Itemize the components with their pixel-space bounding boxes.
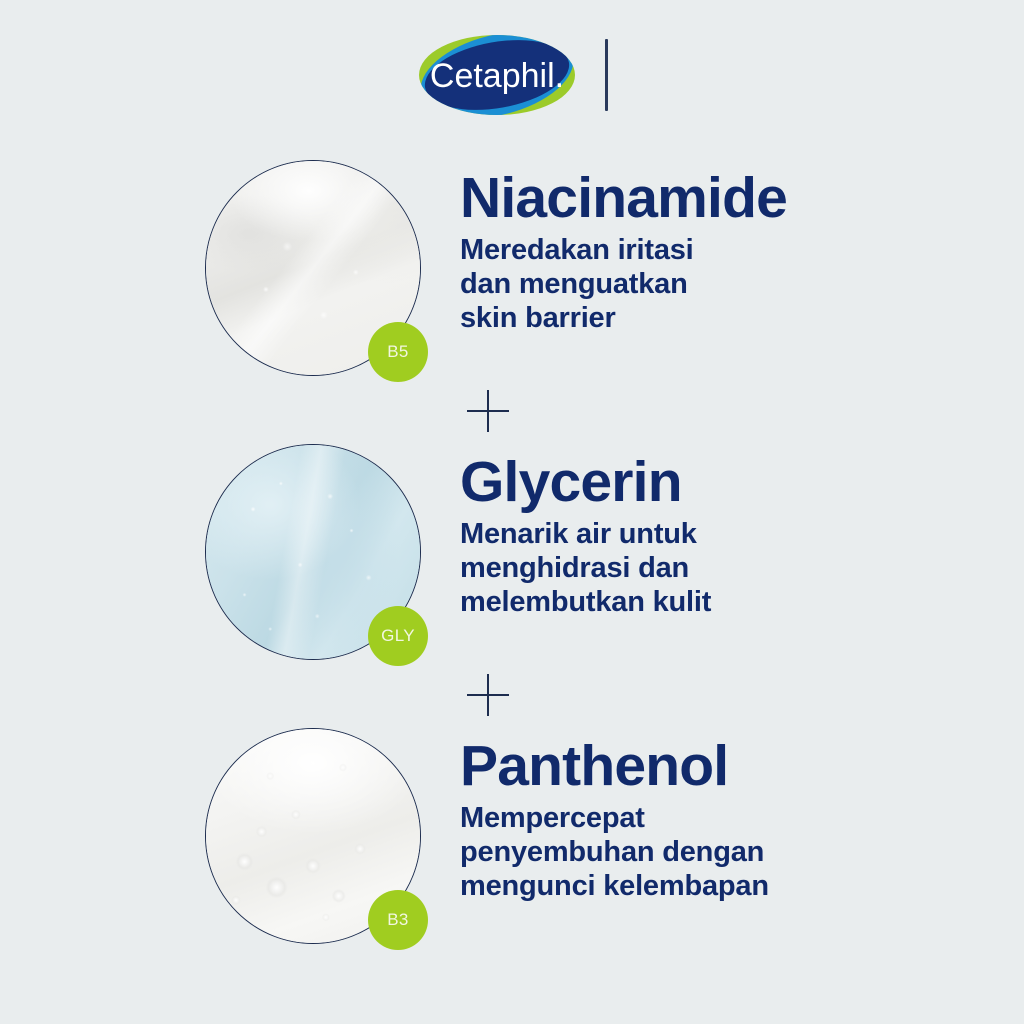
desc-line: dan menguatkan [460, 267, 1024, 301]
separator-row-1 [0, 386, 1024, 432]
cetaphil-wordmark: Cetaphil. [429, 57, 563, 95]
ingredient-row-niacinamide: B5 Niacinamide Meredakan iritasi dan men… [0, 148, 1024, 386]
desc-line: menghidrasi dan [460, 551, 1024, 585]
desc-line: melembutkan kulit [460, 585, 1024, 619]
badge-b5: B5 [368, 322, 428, 382]
text-column: Glycerin Menarik air untuk menghidrasi d… [460, 432, 1024, 620]
ingredient-title-glycerin: Glycerin [460, 454, 1024, 511]
header-divider [605, 39, 608, 111]
desc-line: skin barrier [460, 301, 1024, 335]
ingredient-title-panthenol: Panthenol [460, 738, 1024, 795]
swatch-column: B5 [0, 148, 460, 386]
desc-line: Meredakan iritasi [460, 233, 1024, 267]
badge-b3: B3 [368, 890, 428, 950]
badge-gly: GLY [368, 606, 428, 666]
ingredient-title-niacinamide: Niacinamide [460, 170, 1024, 227]
text-column: Panthenol Mempercepat penyembuhan dengan… [460, 716, 1024, 904]
ingredient-desc-glycerin: Menarik air untuk menghidrasi dan melemb… [460, 517, 1024, 620]
plus-icon [467, 674, 509, 716]
cetaphil-logo-icon: Cetaphil. [417, 32, 577, 118]
desc-line: penyembuhan dengan [460, 835, 1024, 869]
ingredient-list: B5 Niacinamide Meredakan iritasi dan men… [0, 148, 1024, 954]
ingredient-desc-niacinamide: Meredakan iritasi dan menguatkan skin ba… [460, 233, 1024, 336]
desc-line: mengunci kelembapan [460, 869, 1024, 903]
desc-line: Mempercepat [460, 801, 1024, 835]
plus-icon [467, 390, 509, 432]
desc-line: Menarik air untuk [460, 517, 1024, 551]
text-column: Niacinamide Meredakan iritasi dan mengua… [460, 148, 1024, 336]
brand-header: Cetaphil. [0, 0, 1024, 150]
swatch-column: B3 [0, 716, 460, 954]
ingredient-row-panthenol: B3 Panthenol Mempercepat penyembuhan den… [0, 716, 1024, 954]
ingredient-row-glycerin: GLY Glycerin Menarik air untuk menghidra… [0, 432, 1024, 670]
separator-row-2 [0, 670, 1024, 716]
ingredient-desc-panthenol: Mempercepat penyembuhan dengan mengunci … [460, 801, 1024, 904]
cetaphil-logo: Cetaphil. [417, 32, 577, 118]
swatch-column: GLY [0, 432, 460, 670]
